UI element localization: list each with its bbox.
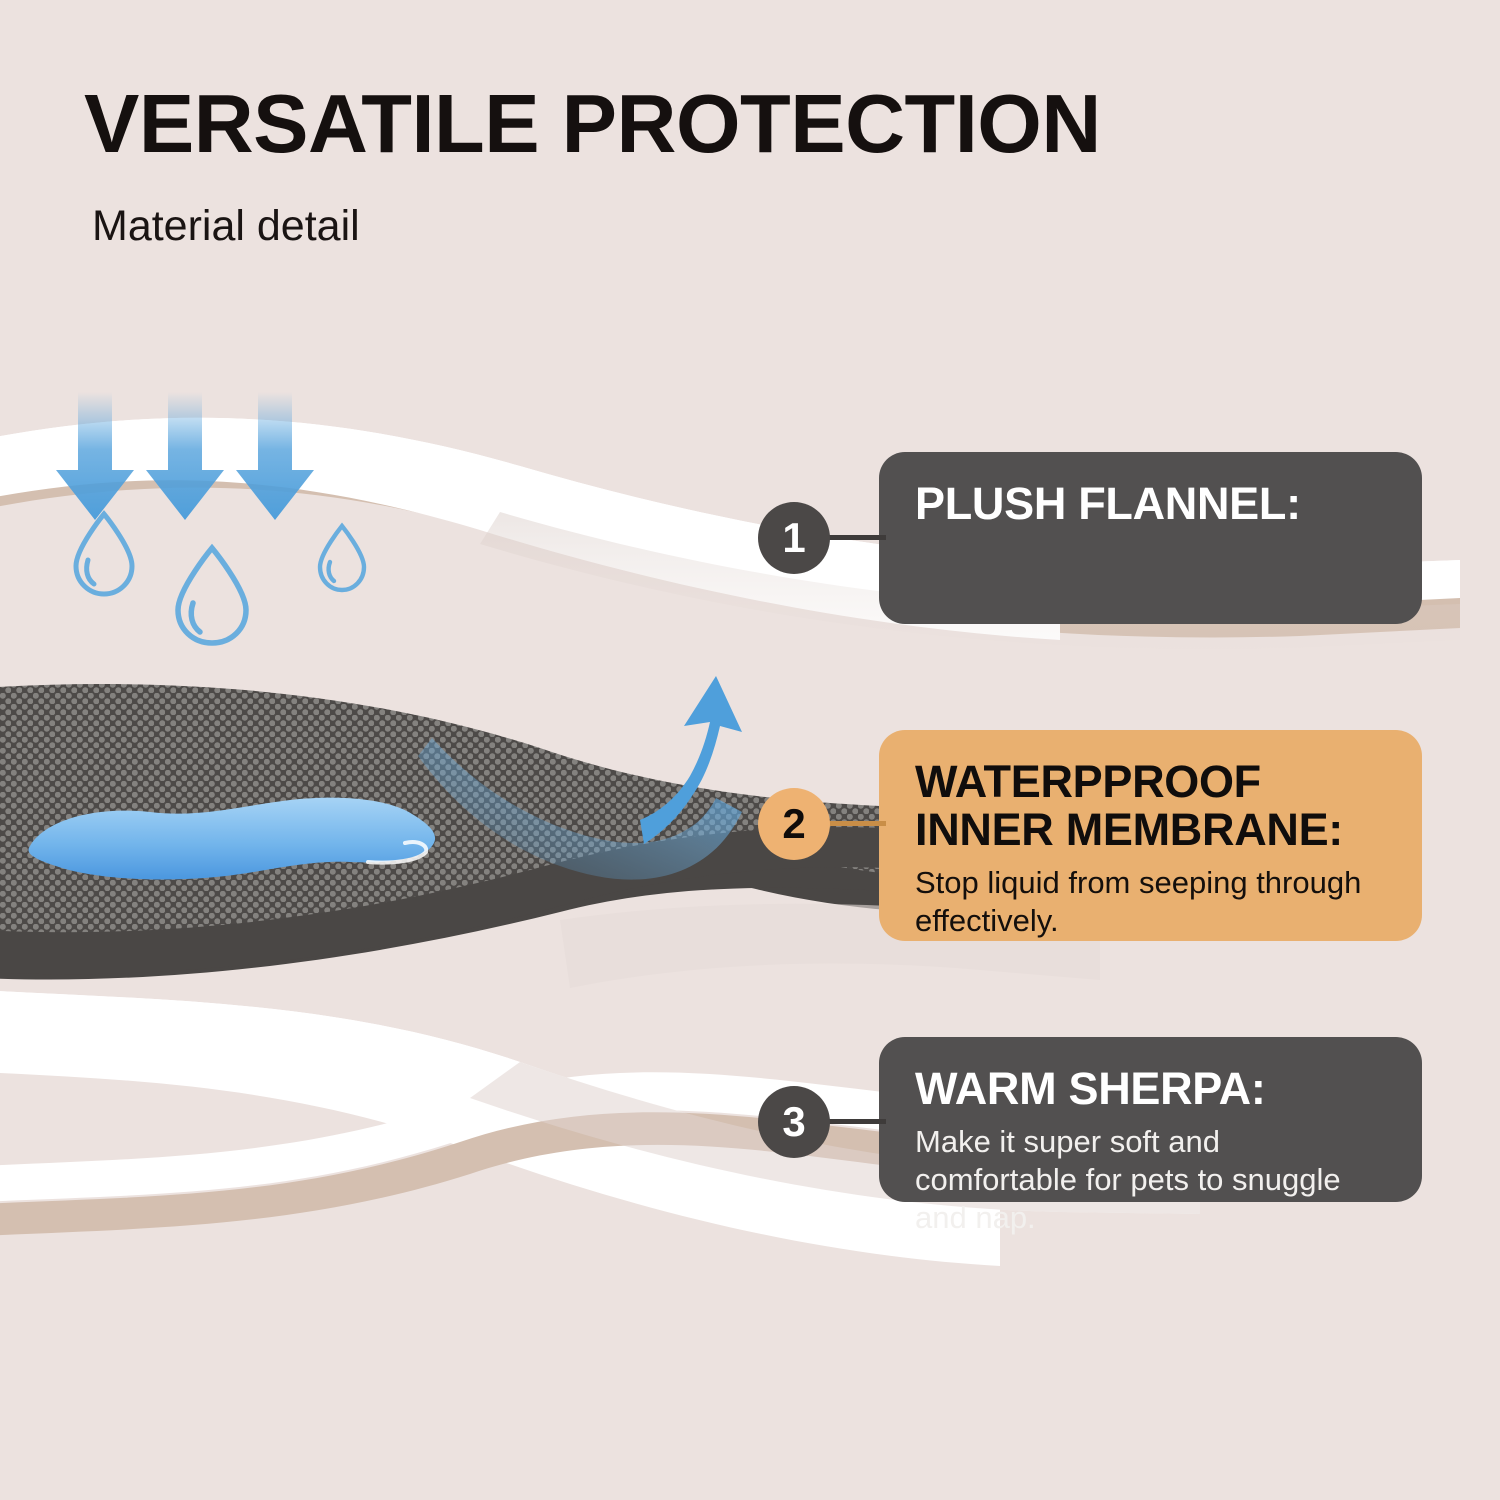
callout-1-title: PLUSH FLANNEL: xyxy=(915,480,1388,528)
step-badge-2[interactable]: 2 xyxy=(758,788,830,860)
callout-2-title-line2: INNER MEMBRANE: xyxy=(915,806,1388,854)
water-droplets xyxy=(76,514,364,643)
callout-2-body: Stop liquid from seeping through effecti… xyxy=(915,864,1388,940)
connector-line-2 xyxy=(826,821,886,826)
droplet-icon-3 xyxy=(320,526,364,590)
callout-3-title: WARM SHERPA: xyxy=(915,1065,1388,1113)
callout-2-title-line1: WATERPPROOF xyxy=(915,758,1388,806)
callout-waterproof-membrane[interactable]: WATERPPROOF INNER MEMBRANE: Stop liquid … xyxy=(879,730,1422,941)
water-down-arrows xyxy=(56,392,314,520)
header-block: VERSATILE PROTECTION Material detail xyxy=(84,82,1384,248)
connector-line-3 xyxy=(826,1119,886,1124)
droplet-icon-2 xyxy=(178,548,246,643)
connector-line-1 xyxy=(826,535,886,540)
step-badge-1[interactable]: 1 xyxy=(758,502,830,574)
infographic-canvas: VERSATILE PROTECTION Material detail 1 2… xyxy=(0,0,1500,1500)
callout-3-body: Make it super soft and comfortable for p… xyxy=(915,1123,1388,1236)
step-badge-3[interactable]: 3 xyxy=(758,1086,830,1158)
page-subtitle: Material detail xyxy=(92,205,1384,248)
droplet-icon-1 xyxy=(76,514,132,594)
callout-plush-flannel[interactable]: PLUSH FLANNEL: xyxy=(879,452,1422,624)
page-title: VERSATILE PROTECTION xyxy=(84,82,1384,165)
callout-warm-sherpa[interactable]: WARM SHERPA: Make it super soft and comf… xyxy=(879,1037,1422,1202)
